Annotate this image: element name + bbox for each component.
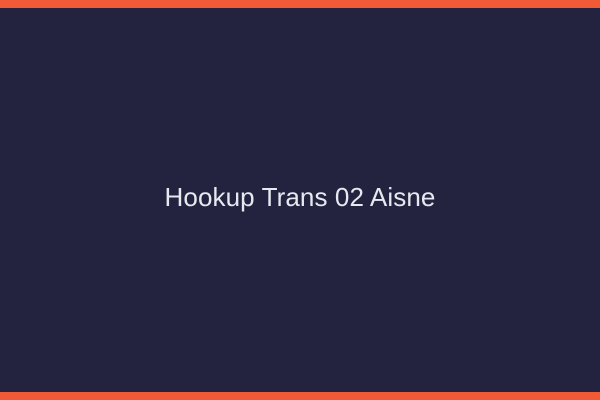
bottom-accent-bar <box>0 392 600 400</box>
placeholder-card: Hookup Trans 02 Aisne <box>0 0 600 400</box>
card-title: Hookup Trans 02 Aisne <box>141 182 460 213</box>
top-accent-bar <box>0 0 600 8</box>
